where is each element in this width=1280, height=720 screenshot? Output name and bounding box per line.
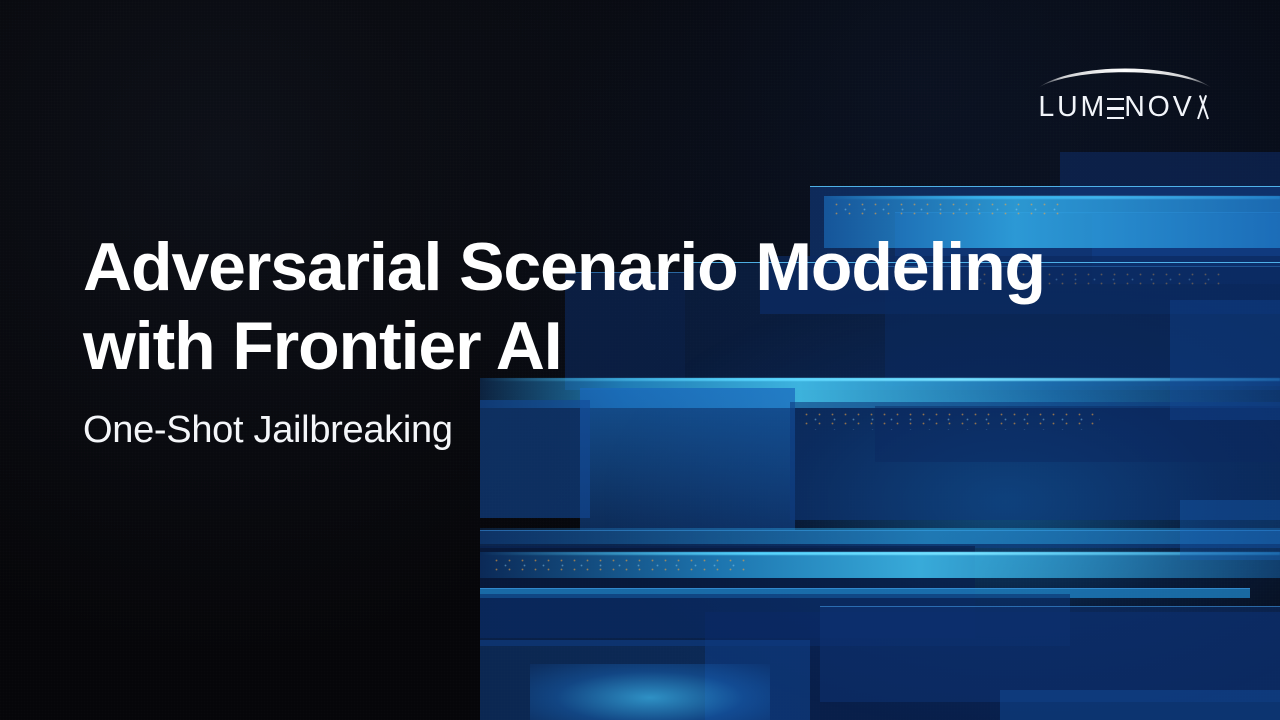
logo-wordmark: LUMNOV [1032, 93, 1218, 122]
logo-glyph-e [1107, 98, 1124, 119]
artwork-bar [1170, 300, 1280, 420]
artwork-bar [1000, 690, 1280, 720]
slide-copy-block: Adversarial Scenario Modelingwith Fronti… [83, 228, 1093, 453]
artwork-bar [480, 530, 1280, 548]
artwork-bar [530, 664, 770, 720]
title-line-2: with Frontier AI [83, 308, 562, 384]
artwork-bar [705, 612, 1280, 720]
artwork-bar [1092, 214, 1280, 284]
lumenova-logo[interactable]: LUMNOV [1032, 55, 1218, 122]
presentation-slide: LUMNOV Adversarial Scenario Modelingwith… [0, 0, 1280, 720]
artwork-dot-texture [490, 556, 750, 572]
artwork-bar [480, 546, 975, 638]
title-line-1: Adversarial Scenario Modeling [83, 229, 1045, 305]
artwork-bar [480, 640, 810, 720]
logo-wordmark-part-2: NOV [1124, 91, 1194, 123]
artwork-bar [480, 528, 1280, 544]
page-title: Adversarial Scenario Modelingwith Fronti… [83, 228, 1093, 386]
logo-arc-mark [1032, 55, 1218, 91]
artwork-dot-texture [830, 200, 1060, 218]
artwork-bar [1060, 152, 1280, 214]
logo-glyph-a [1195, 98, 1212, 119]
logo-wordmark-part-1: LUM [1038, 91, 1107, 123]
artwork-bar [480, 552, 1280, 578]
artwork-bar [480, 594, 1070, 646]
artwork-bar [480, 588, 1250, 598]
page-subtitle: One-Shot Jailbreaking [83, 408, 1093, 454]
artwork-highlight-streak [480, 552, 1280, 555]
artwork-bar [1180, 500, 1280, 560]
artwork-bar [820, 606, 1280, 702]
artwork-highlight-streak [824, 196, 1280, 199]
